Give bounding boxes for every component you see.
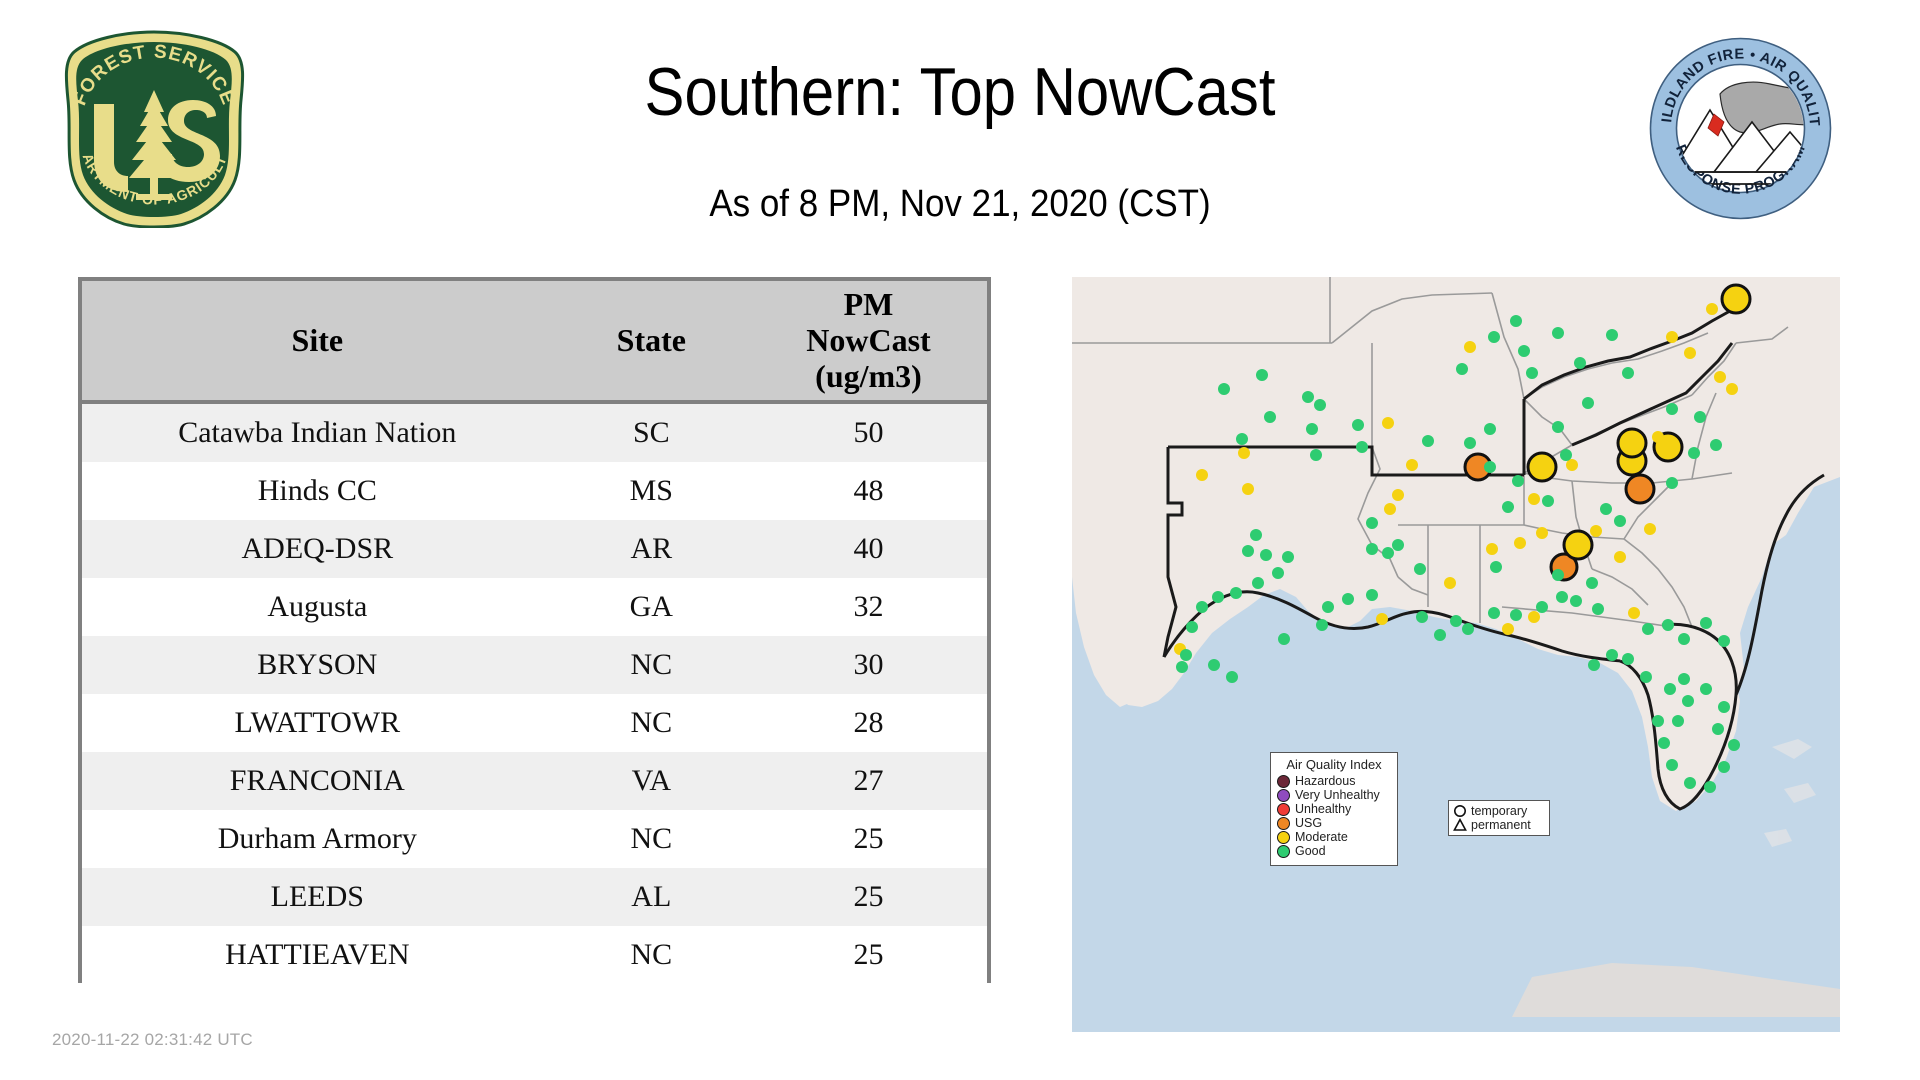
table-header-row: Site State PM NowCast (ug/m3) (82, 281, 987, 402)
monitor-marker[interactable] (1382, 417, 1394, 429)
aqi-swatch-icon (1277, 775, 1290, 788)
monitor-marker[interactable] (1242, 545, 1254, 557)
monitor-marker[interactable] (1666, 477, 1678, 489)
monitor-marker[interactable] (1582, 397, 1594, 409)
aqi-legend-label: USG (1295, 817, 1322, 830)
monitor-marker[interactable] (1462, 623, 1474, 635)
monitor-marker[interactable] (1486, 543, 1498, 555)
state-cell: NC (553, 636, 750, 694)
monitor-marker[interactable] (1510, 315, 1522, 327)
monitor-marker[interactable] (1704, 781, 1716, 793)
state-cell: NC (553, 810, 750, 868)
monitor-marker[interactable] (1672, 715, 1684, 727)
monitor-marker[interactable] (1256, 369, 1268, 381)
monitor-marker[interactable] (1242, 483, 1254, 495)
monitor-marker[interactable] (1590, 525, 1602, 537)
aqi-legend-title: Air Quality Index (1277, 757, 1391, 772)
monitor-marker[interactable] (1414, 563, 1426, 575)
table-row: BRYSONNC30 (82, 636, 987, 694)
monitor-marker[interactable] (1488, 331, 1500, 343)
table-body: Catawba Indian NationSC50Hinds CCMS48ADE… (82, 402, 987, 984)
monitor-marker[interactable] (1718, 635, 1730, 647)
aqi-legend-item: Hazardous (1277, 775, 1391, 788)
table-head: Site State PM NowCast (ug/m3) (82, 281, 987, 402)
state-cell: AR (553, 520, 750, 578)
site-type-temporary-row: temporary (1453, 804, 1545, 818)
site-cell: LWATTOWR (82, 694, 553, 752)
pm-value-cell: 48 (750, 462, 987, 520)
site-cell: BRYSON (82, 636, 553, 694)
monitor-marker[interactable] (1586, 577, 1598, 589)
site-cell: Durham Armory (82, 810, 553, 868)
monitor-marker[interactable] (1570, 595, 1582, 607)
pm-header-line2: NowCast (754, 323, 983, 359)
monitor-marker[interactable] (1640, 671, 1652, 683)
monitor-marker[interactable] (1560, 449, 1572, 461)
air-quality-map[interactable] (1072, 277, 1840, 1032)
monitor-marker[interactable] (1212, 591, 1224, 603)
monitor-marker[interactable] (1406, 459, 1418, 471)
monitor-marker[interactable] (1186, 621, 1198, 633)
monitor-marker[interactable] (1726, 383, 1738, 395)
monitor-marker[interactable] (1422, 435, 1434, 447)
monitor-marker[interactable] (1392, 539, 1404, 551)
aqi-legend: Air Quality Index HazardousVery Unhealth… (1270, 752, 1398, 866)
monitor-marker[interactable] (1666, 403, 1678, 415)
aqi-legend-item: Unhealthy (1277, 803, 1391, 816)
monitor-marker[interactable] (1652, 431, 1664, 443)
column-header-pm-nowcast: PM NowCast (ug/m3) (750, 281, 987, 402)
nowcast-table: Site State PM NowCast (ug/m3) Catawba In… (82, 281, 987, 984)
table-row: LWATTOWRNC28 (82, 694, 987, 752)
aqi-legend-label: Hazardous (1295, 775, 1355, 788)
monitor-marker[interactable] (1678, 633, 1690, 645)
monitor-marker[interactable] (1514, 537, 1526, 549)
state-cell: NC (553, 694, 750, 752)
monitor-marker[interactable] (1376, 613, 1388, 625)
monitor-marker[interactable] (1366, 517, 1378, 529)
monitor-marker[interactable] (1512, 475, 1524, 487)
state-cell: SC (553, 402, 750, 462)
monitor-marker[interactable] (1230, 587, 1242, 599)
generated-timestamp: 2020-11-22 02:31:42 UTC (52, 1030, 253, 1050)
aqi-legend-label: Unhealthy (1295, 803, 1351, 816)
aqi-swatch-icon (1277, 831, 1290, 844)
aqi-legend-label: Good (1295, 845, 1326, 858)
monitor-marker[interactable] (1392, 489, 1404, 501)
aqi-legend-label: Very Unhealthy (1295, 789, 1380, 802)
pm-value-cell: 28 (750, 694, 987, 752)
state-cell: MS (553, 462, 750, 520)
monitor-marker[interactable] (1352, 419, 1364, 431)
monitor-marker[interactable] (1700, 683, 1712, 695)
aqi-swatch-icon (1277, 789, 1290, 802)
monitor-marker[interactable] (1588, 659, 1600, 671)
monitor-marker[interactable] (1644, 523, 1656, 535)
circle-icon (1453, 804, 1467, 818)
pm-value-cell: 50 (750, 402, 987, 462)
site-cell: Augusta (82, 578, 553, 636)
state-cell: NC (553, 926, 750, 984)
site-type-permanent-row: permanent (1453, 818, 1545, 832)
monitor-marker[interactable] (1226, 671, 1238, 683)
monitor-marker[interactable] (1552, 327, 1564, 339)
monitor-marker[interactable] (1614, 515, 1626, 527)
pm-value-cell: 25 (750, 810, 987, 868)
monitor-marker[interactable] (1622, 653, 1634, 665)
aqi-legend-item: Good (1277, 845, 1391, 858)
monitor-marker[interactable] (1238, 447, 1250, 459)
pm-value-cell: 25 (750, 926, 987, 984)
monitor-marker[interactable] (1282, 551, 1294, 563)
monitor-marker[interactable] (1662, 619, 1674, 631)
table-row: AugustaGA32 (82, 578, 987, 636)
monitor-marker[interactable] (1456, 363, 1468, 375)
monitor-marker[interactable] (1264, 411, 1276, 423)
monitor-marker[interactable] (1706, 303, 1718, 315)
monitor-marker[interactable] (1718, 701, 1730, 713)
aqi-legend-item: Very Unhealthy (1277, 789, 1391, 802)
monitor-marker[interactable] (1314, 399, 1326, 411)
table-row: Durham ArmoryNC25 (82, 810, 987, 868)
monitor-marker[interactable] (1196, 601, 1208, 613)
monitor-marker[interactable] (1542, 495, 1554, 507)
monitor-marker[interactable] (1322, 601, 1334, 613)
aqi-swatch-icon (1277, 817, 1290, 830)
monitor-marker[interactable] (1528, 453, 1556, 481)
monitor-marker[interactable] (1722, 285, 1750, 313)
monitor-marker[interactable] (1622, 367, 1634, 379)
monitor-marker[interactable] (1484, 423, 1496, 435)
monitor-marker[interactable] (1658, 737, 1670, 749)
monitor-marker[interactable] (1682, 695, 1694, 707)
aqi-swatch-icon (1277, 803, 1290, 816)
aqi-swatch-icon (1277, 845, 1290, 858)
pm-value-cell: 25 (750, 868, 987, 926)
pm-value-cell: 40 (750, 520, 987, 578)
monitor-marker[interactable] (1642, 623, 1654, 635)
monitor-marker[interactable] (1536, 527, 1548, 539)
monitor-marker[interactable] (1208, 659, 1220, 671)
monitor-marker[interactable] (1712, 723, 1724, 735)
nowcast-table-panel: Site State PM NowCast (ug/m3) Catawba In… (78, 277, 991, 983)
site-cell: HATTIEAVEN (82, 926, 553, 984)
table-row: LEEDSAL25 (82, 868, 987, 926)
monitor-marker[interactable] (1272, 567, 1284, 579)
monitor-marker[interactable] (1356, 441, 1368, 453)
monitor-marker[interactable] (1464, 437, 1476, 449)
monitor-marker[interactable] (1180, 649, 1192, 661)
site-cell: Catawba Indian Nation (82, 402, 553, 462)
monitor-marker[interactable] (1450, 615, 1462, 627)
monitor-marker[interactable] (1366, 589, 1378, 601)
monitor-marker[interactable] (1416, 611, 1428, 623)
page-subtitle: As of 8 PM, Nov 21, 2020 (CST) (77, 185, 1843, 223)
monitor-marker[interactable] (1574, 357, 1586, 369)
site-cell: FRANCONIA (82, 752, 553, 810)
site-cell: ADEQ-DSR (82, 520, 553, 578)
monitor-marker[interactable] (1710, 439, 1722, 451)
monitor-marker[interactable] (1688, 447, 1700, 459)
monitor-marker[interactable] (1502, 623, 1514, 635)
state-cell: GA (553, 578, 750, 636)
site-type-temporary-label: temporary (1471, 805, 1527, 818)
aqi-legend-item: Moderate (1277, 831, 1391, 844)
state-cell: VA (553, 752, 750, 810)
monitor-marker[interactable] (1666, 331, 1678, 343)
monitor-marker[interactable] (1176, 661, 1188, 673)
monitor-marker[interactable] (1714, 371, 1726, 383)
monitor-marker[interactable] (1700, 617, 1712, 629)
monitor-marker[interactable] (1490, 561, 1502, 573)
monitor-marker[interactable] (1196, 469, 1208, 481)
monitor-marker[interactable] (1626, 475, 1654, 503)
monitor-marker[interactable] (1606, 329, 1618, 341)
monitor-marker[interactable] (1614, 551, 1626, 563)
table-row: Hinds CCMS48 (82, 462, 987, 520)
monitor-marker[interactable] (1592, 603, 1604, 615)
page-title: Southern: Top NowCast (115, 58, 1805, 126)
slide-root: FOREST SERVICE DEPARTMENT OF AGRICULTURE (0, 0, 1920, 1080)
monitor-marker[interactable] (1528, 493, 1540, 505)
monitor-marker[interactable] (1218, 383, 1230, 395)
site-type-legend: temporary permanent (1448, 800, 1550, 836)
aqi-legend-label: Moderate (1295, 831, 1348, 844)
monitor-marker[interactable] (1556, 591, 1568, 603)
monitor-marker[interactable] (1664, 683, 1676, 695)
monitor-marker[interactable] (1236, 433, 1248, 445)
monitor-marker[interactable] (1718, 761, 1730, 773)
aqi-legend-rows: HazardousVery UnhealthyUnhealthyUSGModer… (1277, 775, 1391, 858)
table-row: Catawba Indian NationSC50 (82, 402, 987, 462)
table-row: ADEQ-DSRAR40 (82, 520, 987, 578)
monitor-marker[interactable] (1302, 391, 1314, 403)
pm-header-line3: (ug/m3) (754, 359, 983, 395)
monitor-marker[interactable] (1552, 421, 1564, 433)
monitor-marker[interactable] (1694, 411, 1706, 423)
monitor-marker[interactable] (1552, 569, 1564, 581)
monitor-marker[interactable] (1384, 503, 1396, 515)
pm-value-cell: 32 (750, 578, 987, 636)
monitor-marker[interactable] (1278, 633, 1290, 645)
monitor-marker[interactable] (1628, 607, 1640, 619)
monitor-marker[interactable] (1382, 547, 1394, 559)
monitor-marker[interactable] (1728, 739, 1740, 751)
triangle-icon (1453, 818, 1467, 832)
state-cell: AL (553, 868, 750, 926)
table-row: HATTIEAVENNC25 (82, 926, 987, 984)
monitor-marker[interactable] (1652, 715, 1664, 727)
site-cell: Hinds CC (82, 462, 553, 520)
monitor-marker[interactable] (1518, 345, 1530, 357)
monitor-marker[interactable] (1260, 549, 1272, 561)
monitor-marker[interactable] (1306, 423, 1318, 435)
monitor-marker[interactable] (1310, 449, 1322, 461)
monitor-marker[interactable] (1684, 347, 1696, 359)
aqi-legend-item: USG (1277, 817, 1391, 830)
monitor-marker[interactable] (1464, 341, 1476, 353)
column-header-site: Site (82, 281, 553, 402)
monitor-marker[interactable] (1536, 601, 1548, 613)
monitor-marker[interactable] (1502, 501, 1514, 513)
monitor-marker[interactable] (1600, 503, 1612, 515)
monitor-marker[interactable] (1366, 543, 1378, 555)
monitor-marker[interactable] (1528, 611, 1540, 623)
monitor-marker[interactable] (1618, 429, 1646, 457)
pm-value-cell: 30 (750, 636, 987, 694)
monitor-marker[interactable] (1606, 649, 1618, 661)
monitor-marker[interactable] (1316, 619, 1328, 631)
table-row: FRANCONIAVA27 (82, 752, 987, 810)
monitor-marker[interactable] (1434, 629, 1446, 641)
monitor-marker[interactable] (1444, 577, 1456, 589)
monitor-marker[interactable] (1684, 777, 1696, 789)
monitor-marker[interactable] (1488, 607, 1500, 619)
site-cell: LEEDS (82, 868, 553, 926)
monitor-marker[interactable] (1484, 461, 1496, 473)
pm-header-line1: PM (754, 287, 983, 323)
pm-value-cell: 27 (750, 752, 987, 810)
monitor-marker[interactable] (1250, 529, 1262, 541)
monitor-marker[interactable] (1510, 609, 1522, 621)
monitor-marker[interactable] (1342, 593, 1354, 605)
site-type-permanent-label: permanent (1471, 819, 1531, 832)
monitor-marker[interactable] (1566, 459, 1578, 471)
monitor-marker[interactable] (1678, 673, 1690, 685)
monitor-marker[interactable] (1666, 759, 1678, 771)
monitor-marker[interactable] (1526, 367, 1538, 379)
monitor-marker[interactable] (1564, 531, 1592, 559)
monitor-marker[interactable] (1252, 577, 1264, 589)
column-header-state: State (553, 281, 750, 402)
